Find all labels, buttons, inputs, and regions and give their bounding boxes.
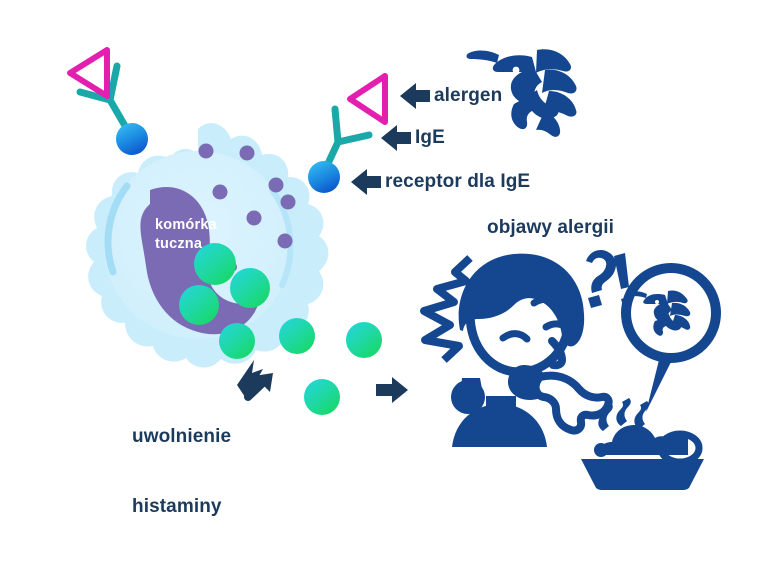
histamine-granule	[230, 268, 270, 308]
label-tuczna: tuczna	[155, 235, 217, 254]
allergen-triangle	[70, 50, 107, 96]
ige-antibody-left	[70, 50, 148, 155]
histamine-granule	[346, 322, 382, 358]
label-komorka: komórka	[155, 216, 217, 235]
ige-arrow	[381, 125, 411, 151]
label-receptor-dla-ige: receptor dla IgE	[385, 170, 530, 193]
receptor-arrow	[351, 169, 381, 195]
thought-bubble-shrimp-icon	[626, 268, 716, 412]
label-uwolnienie-line2: histaminy	[132, 495, 231, 518]
label-ige: IgE	[415, 126, 445, 149]
flow-arrow-right	[376, 377, 408, 403]
ige-receptor-sphere	[308, 161, 340, 193]
label-uwolnienie-histaminy: uwolnienie histaminy	[132, 379, 231, 564]
diagram-canvas	[0, 0, 768, 532]
histamine-granule	[304, 379, 340, 415]
allergy-mechanism-diagram: alergen IgE receptor dla IgE objawy aler…	[0, 0, 768, 532]
label-alergen: alergen	[434, 84, 502, 107]
histamine-granule	[279, 318, 315, 354]
histamine-granule	[179, 285, 219, 325]
alergen-arrow	[400, 83, 430, 109]
label-komorka-tuczna: komórka tuczna	[155, 216, 217, 254]
histamine-granules-released	[219, 318, 382, 415]
sneezing-person-icon	[451, 254, 609, 447]
ige-y-shape	[325, 109, 369, 170]
ige-receptor-sphere	[116, 123, 148, 155]
allergen-triangle	[350, 76, 385, 122]
label-uwolnienie-line1: uwolnienie	[132, 425, 231, 448]
label-objawy-alergii: objawy alergii	[487, 216, 614, 239]
histamine-granule	[219, 323, 255, 359]
ige-antibody-right	[308, 76, 385, 193]
